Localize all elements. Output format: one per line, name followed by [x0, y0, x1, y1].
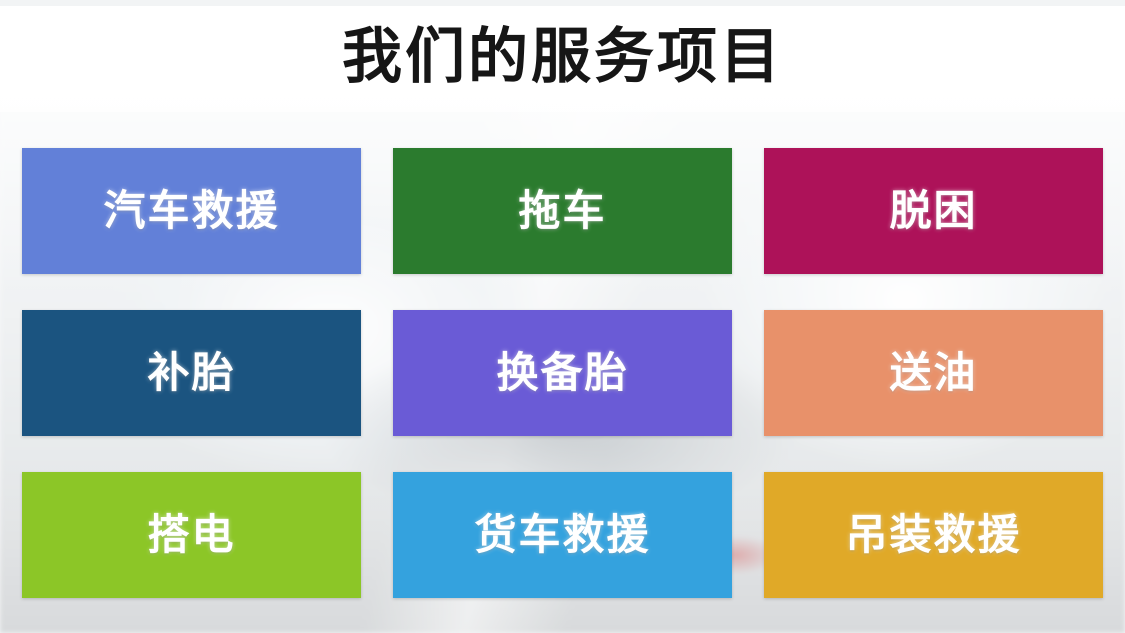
- service-tile-label: 搭电: [147, 512, 235, 558]
- service-tile-label: 送油: [889, 350, 977, 396]
- service-tile-jump-start[interactable]: 搭电: [22, 472, 361, 598]
- service-tile-spare-tire-change[interactable]: 换备胎: [393, 310, 732, 436]
- service-tile-car-rescue[interactable]: 汽车救援: [22, 148, 361, 274]
- service-tile-label: 换备胎: [496, 350, 628, 396]
- services-grid: 汽车救援 拖车 脱困 补胎 换备胎 送油 搭电 货车救援 吊装救援: [22, 148, 1103, 598]
- service-tile-fuel-delivery[interactable]: 送油: [764, 310, 1103, 436]
- service-tile-truck-rescue[interactable]: 货车救援: [393, 472, 732, 598]
- service-tile-label: 吊装救援: [845, 512, 1021, 558]
- service-tile-tire-repair[interactable]: 补胎: [22, 310, 361, 436]
- page-title: 我们的服务项目: [0, 18, 1125, 96]
- service-tile-label: 货车救援: [474, 512, 650, 558]
- service-tile-crane-rescue[interactable]: 吊装救援: [764, 472, 1103, 598]
- service-tile-towing[interactable]: 拖车: [393, 148, 732, 274]
- service-tile-label: 汽车救援: [103, 188, 279, 234]
- service-tile-label: 拖车: [518, 188, 606, 234]
- service-tile-label: 补胎: [147, 350, 235, 396]
- top-edge-strip: [0, 0, 1125, 6]
- service-tile-extrication[interactable]: 脱困: [764, 148, 1103, 274]
- service-slide: 我们的服务项目 汽车救援 拖车 脱困 补胎 换备胎 送油 搭电 货车救援 吊装救…: [0, 0, 1125, 633]
- service-tile-label: 脱困: [889, 188, 977, 234]
